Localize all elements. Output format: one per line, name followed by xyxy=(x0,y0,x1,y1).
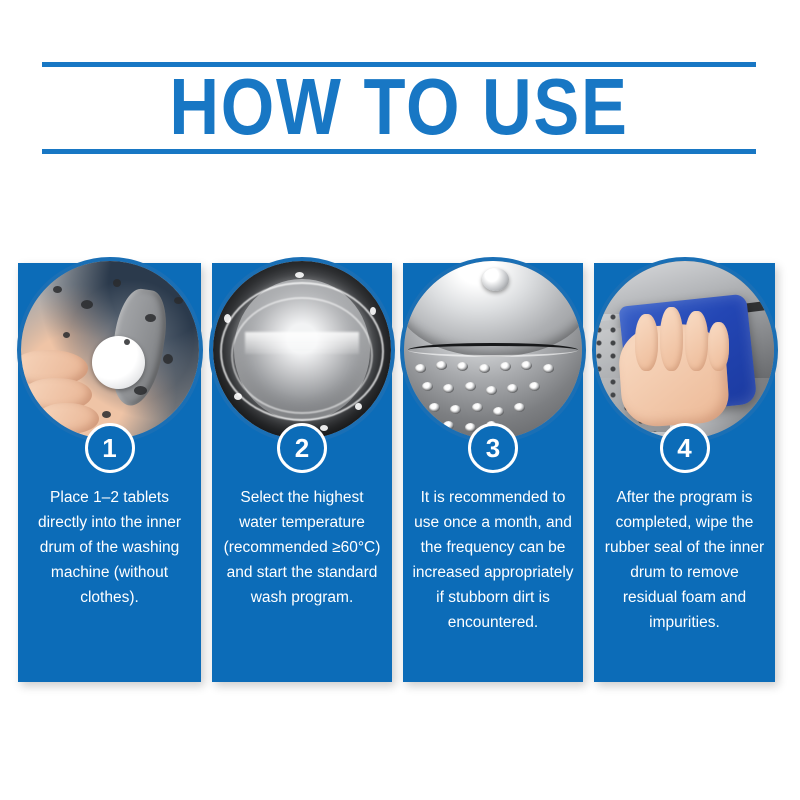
step-4-text: After the program is completed, wipe the… xyxy=(602,485,767,635)
step-1-photo xyxy=(17,257,203,443)
steps-row: 1 Place 1–2 tablets directly into the in… xyxy=(18,263,775,683)
hand-wiping-drum-with-blue-cloth-icon xyxy=(596,261,774,439)
step-2-number-badge: 2 xyxy=(277,423,327,473)
infographic-page: HOW TO USE xyxy=(0,0,800,800)
step-1-number-badge: 1 xyxy=(85,423,135,473)
page-title-block: HOW TO USE xyxy=(42,62,756,158)
step-3-text: It is recommended to use once a month, a… xyxy=(411,485,575,635)
step-card-4: 4 After the program is completed, wipe t… xyxy=(594,263,775,682)
step-4-photo xyxy=(592,257,778,443)
step-card-2: 2 Select the highest water temperature (… xyxy=(212,263,392,682)
step-2-photo xyxy=(209,257,395,443)
hand-holding-tablet-over-dirty-seal-icon xyxy=(21,261,199,439)
step-card-3: 3 It is recommended to use once a month,… xyxy=(403,263,583,682)
step-3-number-badge: 3 xyxy=(468,423,518,473)
step-3-photo xyxy=(400,257,586,443)
step-1-text: Place 1–2 tablets directly into the inne… xyxy=(26,485,193,610)
washing-drum-water-splash-icon xyxy=(213,261,391,439)
step-4-number-badge: 4 xyxy=(660,423,710,473)
page-title: HOW TO USE xyxy=(92,64,706,150)
stainless-steel-drum-interior-icon xyxy=(404,261,582,439)
step-card-1: 1 Place 1–2 tablets directly into the in… xyxy=(18,263,201,682)
step-2-text: Select the highest water temperature (re… xyxy=(220,485,384,610)
title-rule-bottom xyxy=(42,149,756,154)
